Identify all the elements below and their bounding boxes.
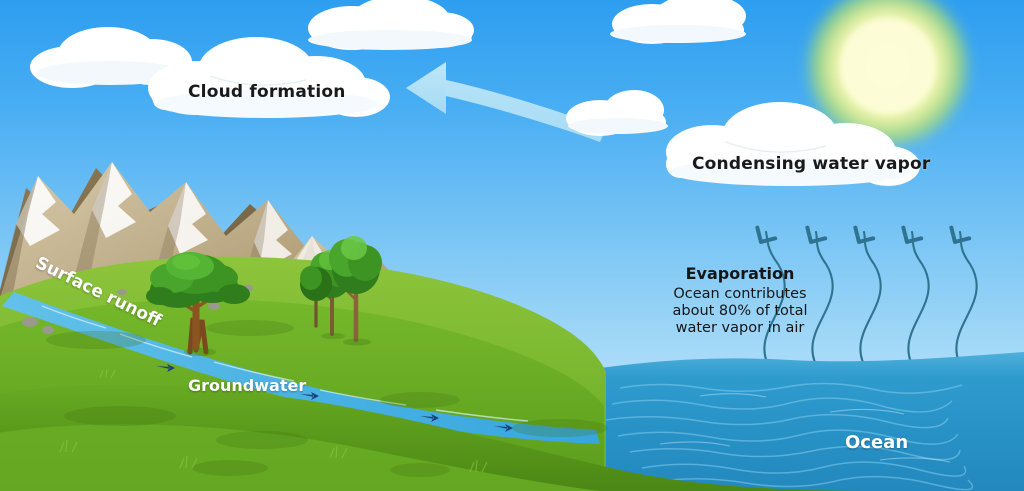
ocean-water [600,352,1024,491]
water-cycle-diagram: Cloud formation Condensing water vapor S… [0,0,1024,491]
scene-artwork [0,0,1024,491]
